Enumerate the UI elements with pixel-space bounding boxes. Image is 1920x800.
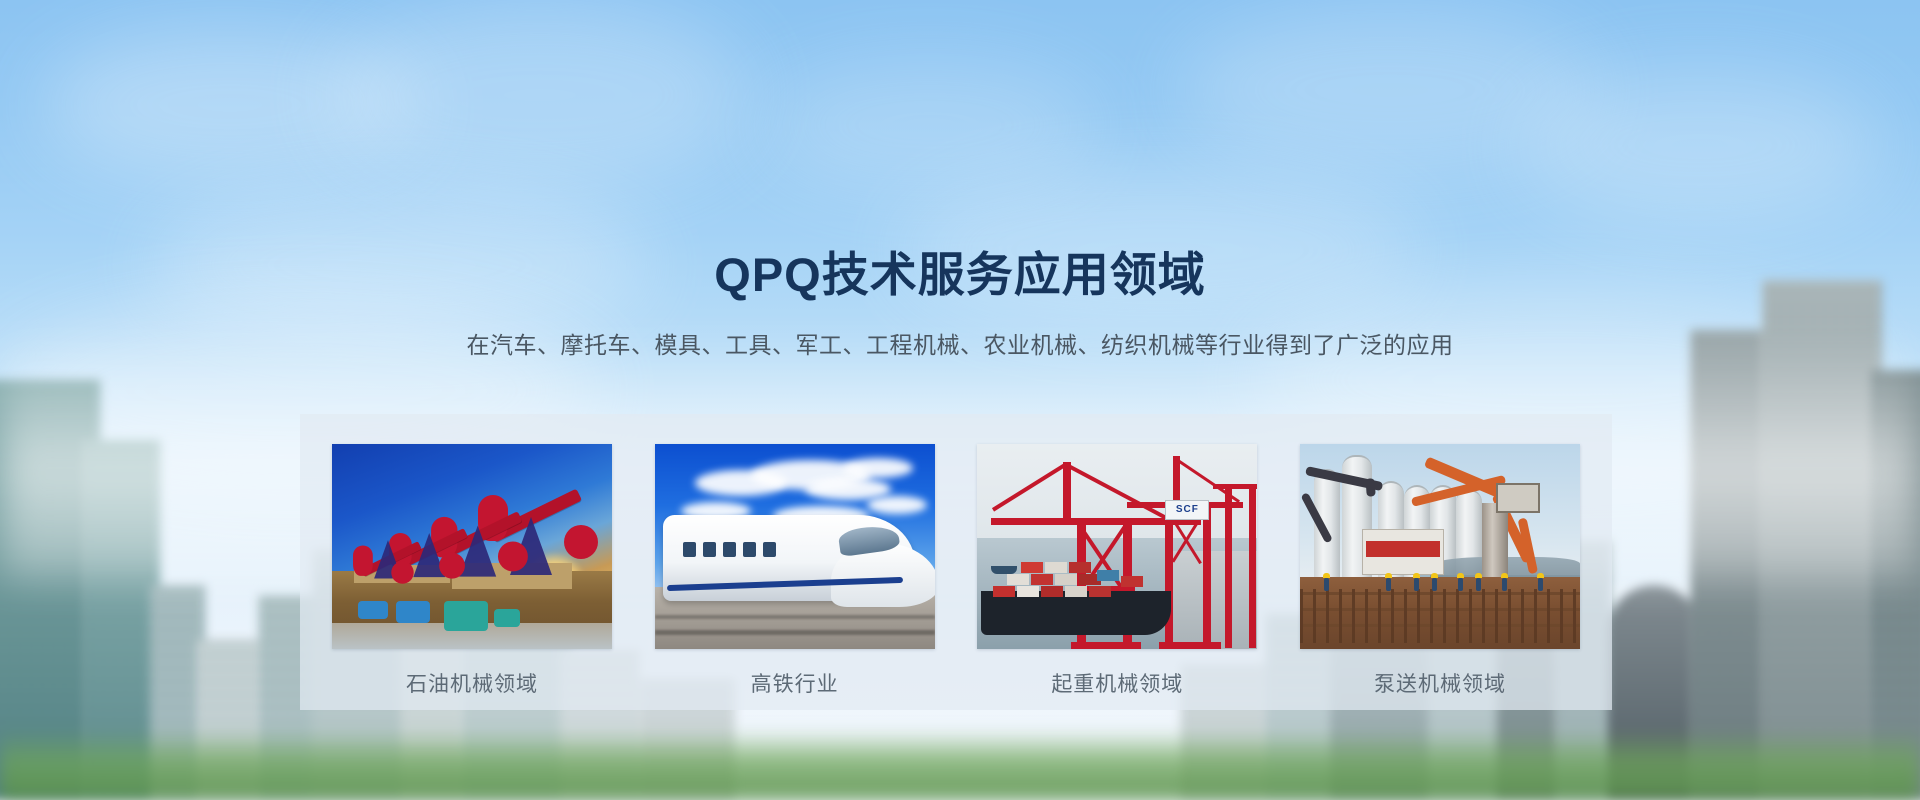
building — [1870, 370, 1920, 800]
card-thumbnail[interactable]: SCF — [977, 444, 1257, 649]
card-thumbnail[interactable] — [1300, 444, 1580, 649]
building — [198, 640, 268, 800]
application-fields-panel: 石油机械领域 — [300, 414, 1612, 710]
building — [150, 585, 205, 800]
card-label: 高铁行业 — [751, 668, 839, 698]
building — [1690, 330, 1768, 800]
concrete-pump-illustration — [1300, 444, 1580, 649]
card-high-speed-rail[interactable]: 高铁行业 — [655, 444, 935, 698]
building — [1608, 585, 1700, 800]
card-pumping-machinery[interactable]: 泵送机械领域 — [1300, 444, 1580, 698]
card-label: 泵送机械领域 — [1374, 668, 1506, 698]
tug-boat — [991, 566, 1017, 574]
card-thumbnail[interactable] — [655, 444, 935, 649]
card-label: 起重机械领域 — [1051, 668, 1183, 698]
port-gantry-crane-illustration: SCF — [977, 444, 1257, 649]
crane-scf-label: SCF — [1165, 500, 1209, 520]
cloud-decoration — [760, 60, 1100, 190]
hero-banner: QPQ技术服务应用领域 在汽车、摩托车、模具、工具、军工、工程机械、农业机械、纺… — [0, 0, 1920, 800]
page-subtitle: 在汽车、摩托车、模具、工具、军工、工程机械、农业机械、纺织机械等行业得到了广泛的… — [0, 326, 1920, 360]
tree-line — [0, 730, 1920, 800]
cloud-decoration — [40, 30, 420, 180]
cloud-decoration — [1520, 70, 1880, 220]
oil-pumpjack-illustration — [332, 444, 612, 649]
page-title: QPQ技术服务应用领域 — [0, 236, 1920, 305]
card-oil-machinery[interactable]: 石油机械领域 — [332, 444, 612, 698]
cloud-decoration — [1180, 10, 1600, 170]
building — [85, 440, 160, 800]
card-thumbnail[interactable] — [332, 444, 612, 649]
building — [0, 380, 100, 800]
card-lifting-machinery[interactable]: SCF — [977, 444, 1257, 698]
high-speed-train-illustration — [655, 444, 935, 649]
card-label: 石油机械领域 — [406, 668, 538, 698]
cloud-decoration — [330, 0, 750, 190]
